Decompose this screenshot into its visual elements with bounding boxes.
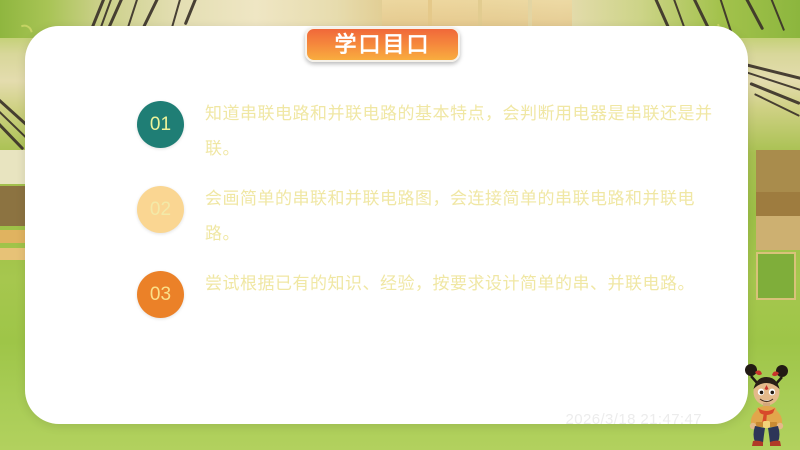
goal-text: 尝试根据已有的知识、经验，按要求设计简单的串、并联电路。 bbox=[205, 266, 695, 301]
list-item: 01 知道串联电路和并联电路的基本特点，会判断用电器是串联还是并联。 bbox=[137, 96, 717, 181]
list-item: 02 会画简单的串联和并联电路图，会连接简单的串联电路和并联电路。 bbox=[137, 181, 717, 266]
learning-goals-list: 01 知道串联电路和并联电路的基本特点，会判断用电器是串联还是并联。 02 会画… bbox=[137, 96, 717, 351]
goal-text: 知道串联电路和并联电路的基本特点，会判断用电器是串联还是并联。 bbox=[205, 96, 717, 166]
list-item: 03 尝试根据已有的知识、经验，按要求设计简单的串、并联电路。 bbox=[137, 266, 717, 351]
page-title: 学口目口 bbox=[334, 34, 430, 56]
background-field-patch bbox=[756, 252, 796, 300]
slide-canvas: 学口目口 01 知道串联电路和并联电路的基本特点，会判断用电器是串联还是并联。 … bbox=[0, 0, 800, 450]
goal-text: 会画简单的串联和并联电路图，会连接简单的串联电路和并联电路。 bbox=[205, 181, 717, 251]
background-soil-patch bbox=[756, 216, 800, 250]
background-soil-patch bbox=[756, 192, 800, 216]
background-soil-band bbox=[0, 230, 26, 243]
goal-number: 02 bbox=[150, 200, 171, 219]
goal-number: 01 bbox=[150, 115, 171, 134]
background-soil-band bbox=[0, 150, 26, 184]
background-soil-band bbox=[0, 248, 26, 260]
goal-number-badge: 01 bbox=[137, 101, 184, 148]
background-soil-band bbox=[0, 186, 26, 226]
goal-number-badge: 03 bbox=[137, 271, 184, 318]
background-soil-patch bbox=[756, 150, 800, 192]
goal-number: 03 bbox=[150, 285, 171, 304]
goal-number-badge: 02 bbox=[137, 186, 184, 233]
timestamp-watermark: 2026/3/18 21:47:47 bbox=[566, 411, 703, 428]
slide-title-badge: 学口目口 bbox=[305, 27, 460, 62]
nezha-character-icon bbox=[738, 358, 794, 448]
